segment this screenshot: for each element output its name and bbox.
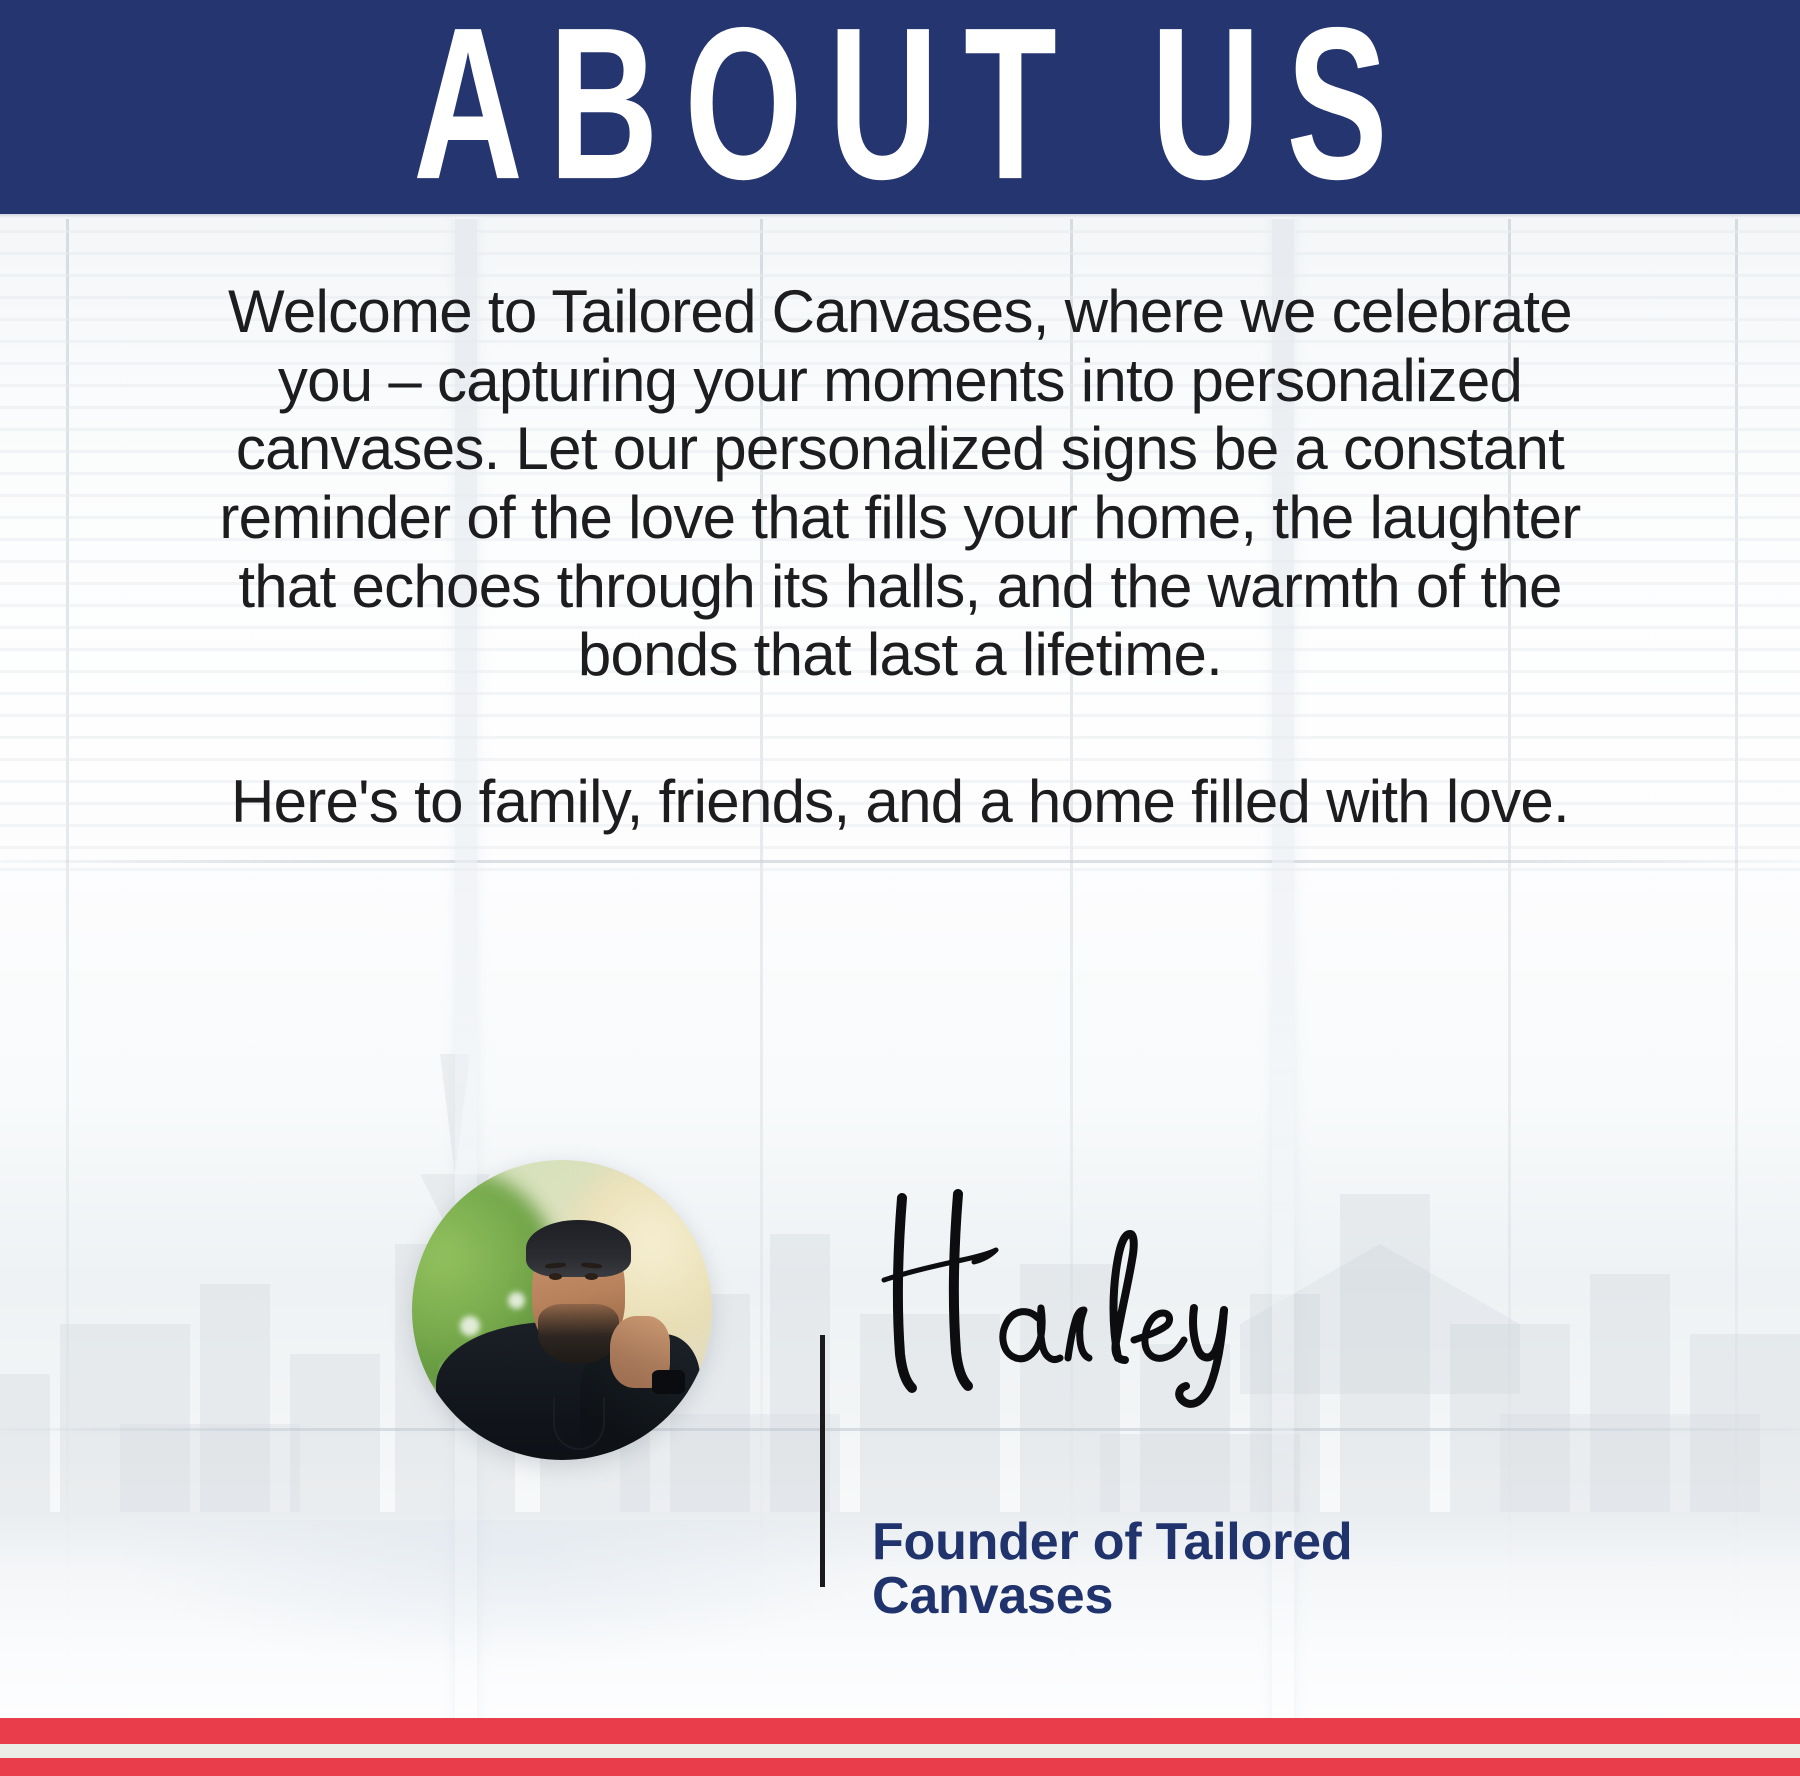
avatar-photo [412,1160,712,1460]
signature-harley-icon [862,1168,1362,1408]
about-copy: Welcome to Tailored Canvases, where we c… [210,278,1590,837]
paragraph-spacer [210,690,1590,768]
footer-stripe-top [0,1718,1800,1744]
signature-divider [820,1335,825,1587]
avatar-necklace [553,1397,605,1450]
paragraph-closing: Here's to family, friends, and a home fi… [210,768,1590,837]
founder-title-line-1: Founder of Tailored [872,1516,1432,1570]
window-transom-lower [0,1428,1800,1431]
avatar-bokeh-dot [508,1292,525,1309]
avatar-hair [526,1220,631,1277]
footer-stripe-gap [0,1744,1800,1758]
paragraph-intro: Welcome to Tailored Canvases, where we c… [210,278,1590,690]
founder-title-line-2: Canvases [872,1570,1432,1624]
page-title: ABOUT US [387,0,1413,212]
header-banner: ABOUT US [0,0,1800,214]
about-us-poster: ABOUT US Welcome to Tailored Canvases, w… [0,0,1800,1776]
avatar-bokeh-dot [460,1316,480,1336]
avatar-watch [652,1370,685,1394]
background-floor-reflection [120,1520,880,1670]
avatar-eye [549,1273,563,1280]
avatar-beard [538,1304,619,1364]
avatar [412,1160,712,1460]
avatar-eye [585,1273,599,1280]
founder-signature [862,1168,1362,1408]
footer-stripe-bottom [0,1758,1800,1776]
background-cityscape-image [0,0,1800,1776]
header-underline [0,214,1800,219]
founder-title: Founder of Tailored Canvases [872,1516,1432,1623]
